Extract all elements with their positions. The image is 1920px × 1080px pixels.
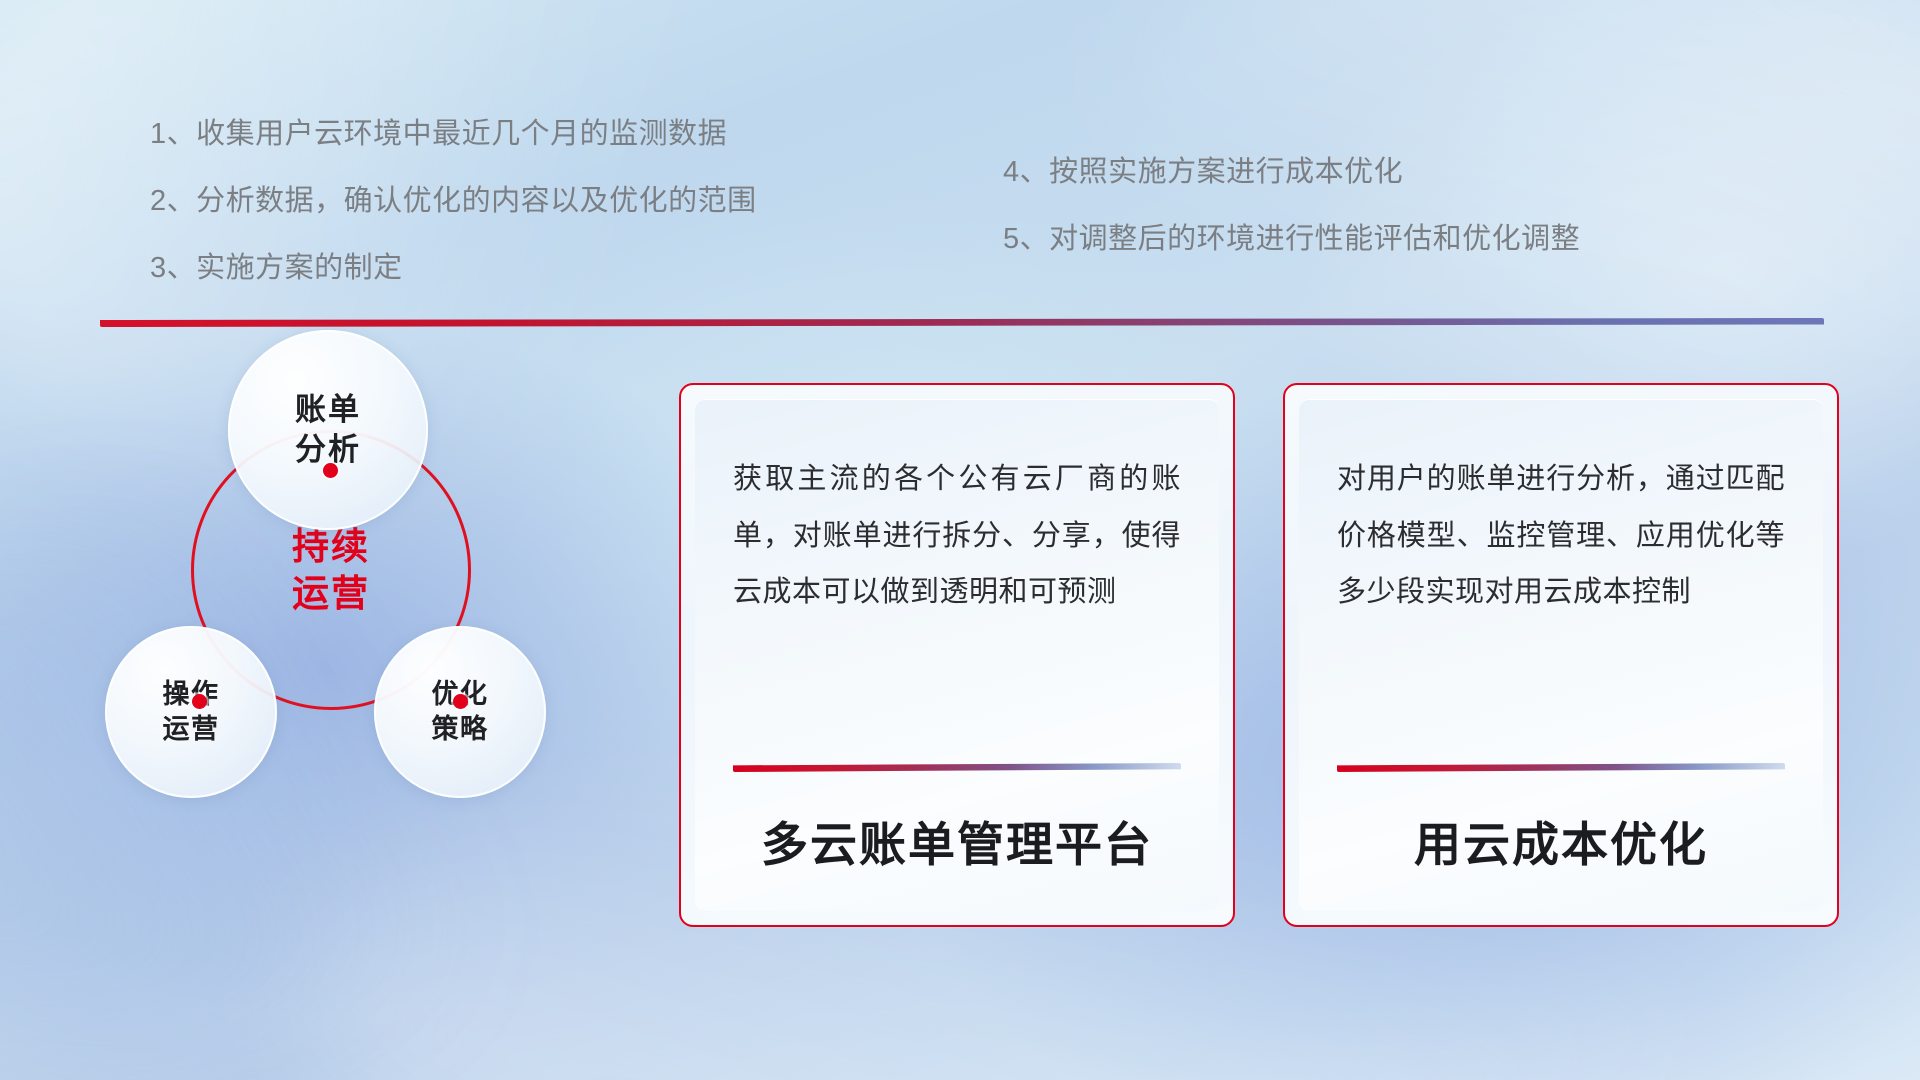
info-card-inner-panel: 对用户的账单进行分析，通过匹配价格模型、监控管理、应用优化等多少段实现对用云成本… bbox=[1299, 399, 1823, 911]
info-card-multi-cloud-billing-platform[interactable]: 获取主流的各个公有云厂商的账单，对账单进行拆分、分享，使得云成本可以做到透明和可… bbox=[679, 383, 1235, 927]
info-card-inner-panel: 获取主流的各个公有云厂商的账单，对账单进行拆分、分享，使得云成本可以做到透明和可… bbox=[695, 399, 1219, 911]
diagram-node-label-line1: 操作 bbox=[163, 677, 220, 712]
diagram-connector-dot-bottom-left bbox=[192, 694, 207, 709]
diagram-node-operation-ops[interactable]: 操作 运营 bbox=[105, 626, 277, 798]
info-card-body-text: 对用户的账单进行分析，通过匹配价格模型、监控管理、应用优化等多少段实现对用云成本… bbox=[1337, 451, 1785, 621]
info-card-title: 用云成本优化 bbox=[1337, 806, 1785, 875]
diagram-center-label-line2: 运营 bbox=[292, 570, 370, 617]
bullet-item-1: 1、收集用户云环境中最近几个月的监测数据 bbox=[150, 120, 757, 149]
info-card-divider-bar bbox=[733, 763, 1181, 772]
circle-diagram: 持续 运营 账单 分析 操作 运营 优化 策略 bbox=[95, 330, 565, 830]
diagram-node-bill-analysis[interactable]: 账单 分析 bbox=[228, 330, 428, 530]
bullet-item-4: 4、按照实施方案进行成本优化 bbox=[1003, 158, 1580, 187]
diagram-connector-dot-top bbox=[323, 463, 338, 478]
diagram-node-label-line2: 策略 bbox=[432, 712, 489, 747]
info-card-divider bbox=[733, 763, 1181, 772]
bullet-item-3: 3、实施方案的制定 bbox=[150, 254, 757, 283]
diagram-node-label-line1: 账单 bbox=[295, 390, 361, 430]
bullet-item-2: 2、分析数据，确认优化的内容以及优化的范围 bbox=[150, 187, 757, 216]
info-card-divider bbox=[1337, 763, 1785, 772]
bullet-list-right: 4、按照实施方案进行成本优化 5、对调整后的环境进行性能评估和优化调整 bbox=[1003, 158, 1580, 254]
info-card-cloud-cost-optimization[interactable]: 对用户的账单进行分析，通过匹配价格模型、监控管理、应用优化等多少段实现对用云成本… bbox=[1283, 383, 1839, 927]
diagram-connector-dot-bottom-right bbox=[453, 694, 468, 709]
diagram-node-optimization-policy[interactable]: 优化 策略 bbox=[374, 626, 546, 798]
diagram-node-label-line2: 运营 bbox=[163, 712, 220, 747]
info-card-body-text: 获取主流的各个公有云厂商的账单，对账单进行拆分、分享，使得云成本可以做到透明和可… bbox=[733, 451, 1181, 621]
slide-canvas: 1、收集用户云环境中最近几个月的监测数据 2、分析数据，确认优化的内容以及优化的… bbox=[0, 0, 1920, 1080]
info-card-divider-bar bbox=[1337, 763, 1785, 772]
section-divider-bar bbox=[100, 318, 1824, 327]
bullet-list-left: 1、收集用户云环境中最近几个月的监测数据 2、分析数据，确认优化的内容以及优化的… bbox=[150, 120, 757, 283]
bullet-item-5: 5、对调整后的环境进行性能评估和优化调整 bbox=[1003, 225, 1580, 254]
section-divider-rule bbox=[100, 318, 1824, 327]
info-card-title: 多云账单管理平台 bbox=[733, 806, 1181, 875]
